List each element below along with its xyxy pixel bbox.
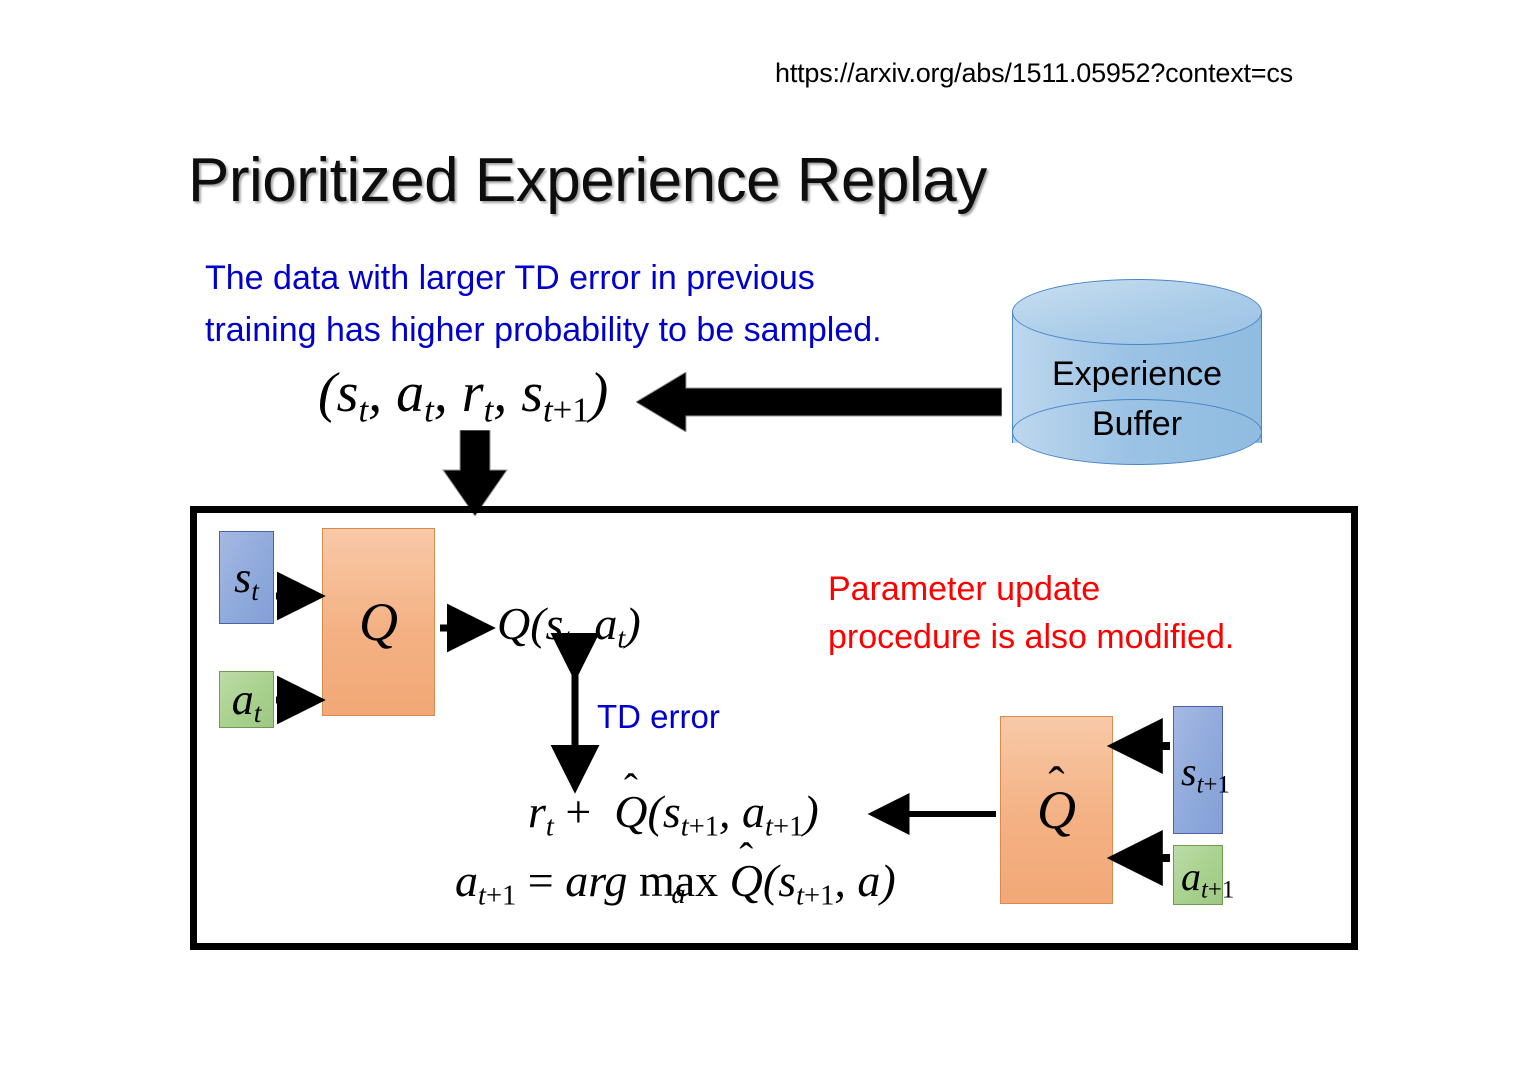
network-box-qhat: ̂Q (1000, 716, 1113, 904)
description-text: The data with larger TD error in previou… (205, 252, 1005, 356)
network-q-label: Q (359, 595, 398, 649)
source-url: https://arxiv.org/abs/1511.05952?context… (775, 58, 1293, 89)
block-arrow-left-icon (636, 372, 1002, 432)
experience-buffer-label: Experience Buffer (1012, 349, 1262, 449)
input-box-action-t: at (219, 671, 274, 728)
state-t-plus-1-label: st+1 (1181, 752, 1230, 792)
parameter-note-line-1: Parameter update (828, 565, 1328, 613)
sampled-tuple-expression: (st, at, rt, st+1) (318, 365, 608, 421)
slide-canvas: https://arxiv.org/abs/1511.05952?context… (0, 0, 1524, 1080)
q-output-expression: Q(st, at) (497, 601, 641, 647)
state-t-label: st (234, 556, 259, 600)
action-t-plus-1-label: at+1 (1181, 857, 1234, 897)
page-title: Prioritized Experience Replay (188, 145, 987, 216)
td-error-label: TD error (597, 698, 720, 736)
buffer-label-line-2: Buffer (1012, 399, 1262, 449)
cylinder-top-icon (1012, 279, 1262, 345)
parameter-note-line-2: procedure is also modified. (828, 613, 1328, 661)
parameter-update-note: Parameter update procedure is also modif… (828, 565, 1328, 661)
input-box-state-t: st (219, 531, 274, 624)
action-t-label: at (232, 678, 262, 722)
experience-buffer: Experience Buffer (1012, 289, 1264, 471)
description-line-1: The data with larger TD error in previou… (205, 252, 1005, 304)
buffer-label-line-1: Experience (1012, 349, 1262, 399)
block-arrow-down-icon (440, 430, 510, 516)
description-line-2: training has higher probability to be sa… (205, 304, 1005, 356)
network-box-q: Q (322, 528, 435, 716)
network-qhat-label: ̂Q (1037, 783, 1076, 837)
td-target-expression: rt + ̂Q(st+1, at+1) (528, 789, 819, 835)
argmax-expression: at+1 = arg maxa ̂Q(st+1, a) (455, 858, 896, 904)
